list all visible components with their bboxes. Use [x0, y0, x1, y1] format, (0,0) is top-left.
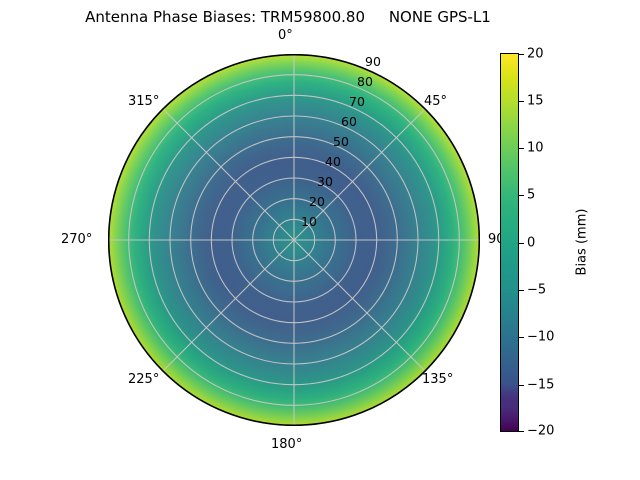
colorbar-ticklabel-20: 20: [527, 47, 544, 62]
colorbar-ticklabel-0: 0: [527, 236, 535, 251]
colorbar-tick-neg10: [519, 337, 524, 338]
colorbar: 20 15 10 5 0 −5 −10 −15 −20 Bias (mm): [500, 53, 630, 433]
radial-tick-10: 10: [301, 214, 317, 229]
polar-axes: 0° 45° 90 135° 180° 225° 270° 315° 10 20…: [108, 54, 480, 426]
radial-tick-70: 70: [349, 94, 365, 109]
radial-tick-60: 60: [341, 114, 357, 129]
colorbar-tick-20: [519, 54, 524, 55]
colorbar-axis-label: Bias (mm): [575, 209, 590, 276]
colorbar-ticklabel-neg15: −15: [527, 378, 554, 393]
colorbar-ticklabel-15: 15: [527, 94, 544, 109]
polar-grid-spokes: [108, 54, 480, 426]
angular-tick-315: 315°: [128, 94, 159, 109]
angular-tick-270: 270°: [61, 232, 92, 247]
colorbar-tick-neg20: [519, 431, 524, 432]
colorbar-ticklabel-5: 5: [527, 188, 535, 203]
angular-tick-180: 180°: [271, 437, 302, 452]
radial-tick-30: 30: [317, 174, 333, 189]
angular-tick-135: 135°: [422, 372, 453, 387]
colorbar-gradient: [500, 53, 519, 432]
radial-tick-50: 50: [333, 134, 349, 149]
radial-tick-80: 80: [357, 74, 373, 89]
colorbar-ticklabel-neg5: −5: [527, 283, 546, 298]
angular-tick-225: 225°: [128, 372, 159, 387]
angular-tick-45: 45°: [424, 94, 447, 109]
colorbar-ticklabel-10: 10: [527, 141, 544, 156]
colorbar-tick-15: [519, 101, 524, 102]
matplotlib-figure: Antenna Phase Biases: TRM59800.80 NONE G…: [0, 0, 640, 480]
colorbar-tick-10: [519, 148, 524, 149]
radial-tick-90: 90: [365, 54, 381, 69]
radial-tick-20: 20: [309, 194, 325, 209]
colorbar-tick-neg5: [519, 290, 524, 291]
colorbar-tick-neg15: [519, 385, 524, 386]
page-title: Antenna Phase Biases: TRM59800.80 NONE G…: [0, 8, 576, 26]
colorbar-ticklabel-neg10: −10: [527, 330, 554, 345]
radial-tick-40: 40: [325, 154, 341, 169]
angular-tick-0: 0°: [278, 28, 293, 43]
colorbar-tick-0: [519, 243, 524, 244]
colorbar-tick-5: [519, 195, 524, 196]
colorbar-ticklabel-neg20: −20: [527, 424, 554, 439]
polar-heatmap: [108, 54, 480, 426]
